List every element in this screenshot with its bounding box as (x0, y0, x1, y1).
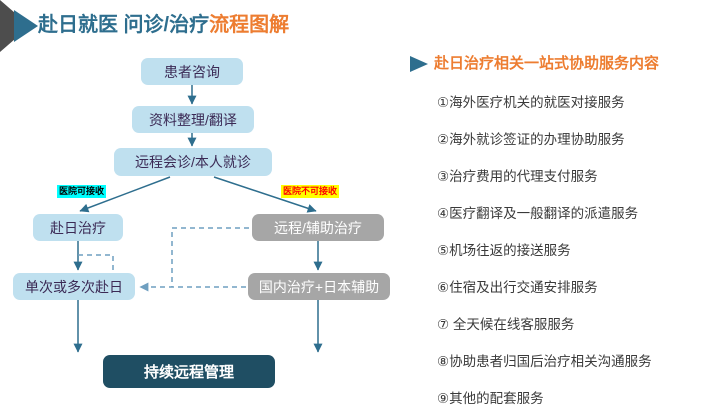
flow-node-travel-treatment[interactable]: 赴日治疗 (33, 214, 123, 241)
services-panel-title: 赴日治疗相关一站式协助服务内容 (434, 52, 659, 73)
services-panel: 赴日治疗相关一站式协助服务内容 ①海外医疗机关的就医对接服务 ②海外就诊签证的办… (405, 50, 720, 405)
flow-node-remote-support[interactable]: 远程/辅助治疗 (252, 214, 384, 241)
flow-node-single-or-multiple[interactable]: 单次或多次赴日 (13, 273, 135, 300)
branch-label-not-acceptable: 医院不可接收 (281, 185, 339, 198)
service-item-9: ⑨其他的配套服务 (437, 387, 544, 407)
service-item-3: ③治疗费用的代理支付服务 (437, 165, 598, 185)
page-title-primary: 赴日就医 问诊/治疗 (38, 14, 209, 36)
service-item-5: ⑤机场往返的接送服务 (437, 239, 571, 259)
service-item-7: ⑦ 全天候在线客服服务 (437, 313, 574, 333)
flowchart: 患者咨询 资料整理/翻译 远程会诊/本人就诊 赴日治疗 远程/辅助治疗 单次或多… (0, 50, 400, 405)
flow-node-domestic-plus-japan[interactable]: 国内治疗+日本辅助 (248, 273, 390, 300)
service-item-1: ①海外医疗机关的就医对接服务 (437, 91, 625, 111)
service-item-8: ⑧协助患者归国后治疗相关沟通服务 (437, 350, 652, 370)
flow-node-document-prep[interactable]: 资料整理/翻译 (132, 106, 254, 133)
flow-node-continuous-remote[interactable]: 持续远程管理 (103, 355, 275, 388)
page-title-secondary: 流程图解 (209, 14, 289, 36)
flow-node-remote-consult[interactable]: 远程会诊/本人就诊 (114, 148, 272, 176)
branch-label-acceptable: 医院可接收 (57, 185, 106, 198)
slide-canvas: 赴日就医 问诊/治疗流程图解 (0, 0, 720, 405)
service-item-2: ②海外就诊签证的办理协助服务 (437, 128, 625, 148)
service-item-6: ⑥住宿及出行交通安排服务 (437, 276, 598, 296)
service-item-4: ④医疗翻译及一般翻译的派遣服务 (437, 202, 638, 222)
panel-arrow-icon (409, 55, 429, 73)
page-title: 赴日就医 问诊/治疗流程图解 (38, 8, 289, 37)
flow-node-patient-consult[interactable]: 患者咨询 (141, 58, 243, 85)
